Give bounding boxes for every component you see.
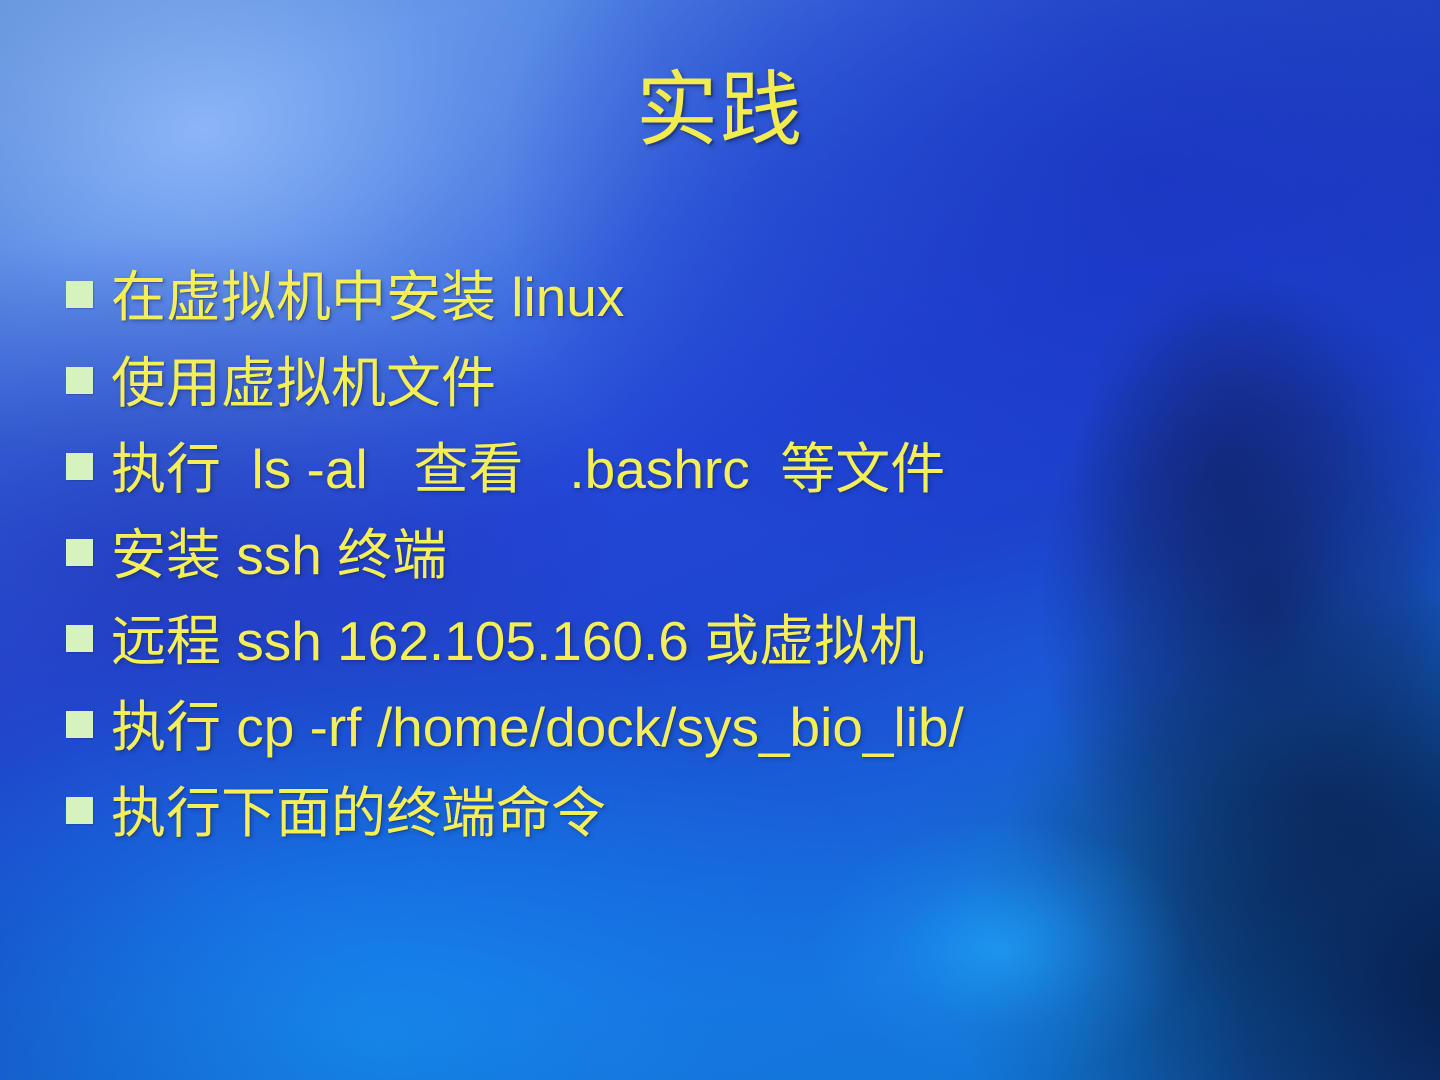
bullet-text-2: 使用虚拟机文件 xyxy=(111,348,1406,418)
square-bullet-icon xyxy=(66,539,93,566)
square-bullet-icon xyxy=(66,281,93,308)
bullet-text-1: 在虚拟机中安装 linux xyxy=(111,262,1406,332)
bullet-item-4: 安装 ssh 终端 xyxy=(66,520,1406,606)
bullet-item-7: 执行下面的终端命令 xyxy=(66,778,1406,864)
presentation-slide: 实践 在虚拟机中安装 linux 使用虚拟机文件 执行 ls -al 查看 .b… xyxy=(0,0,1440,1080)
slide-content: 实践 在虚拟机中安装 linux 使用虚拟机文件 执行 ls -al 查看 .b… xyxy=(0,0,1440,1080)
bullet-item-5: 远程 ssh 162.105.160.6 或虚拟机 xyxy=(66,606,1406,692)
bullet-text-7: 执行下面的终端命令 xyxy=(111,778,1406,848)
bullet-item-2: 使用虚拟机文件 xyxy=(66,348,1406,434)
bullet-list: 在虚拟机中安装 linux 使用虚拟机文件 执行 ls -al 查看 .bash… xyxy=(66,262,1406,864)
slide-title: 实践 xyxy=(0,70,1440,152)
bullet-text-4: 安装 ssh 终端 xyxy=(111,520,1406,590)
bullet-text-3: 执行 ls -al 查看 .bashrc 等文件 xyxy=(111,434,1406,504)
bullet-text-5: 远程 ssh 162.105.160.6 或虚拟机 xyxy=(111,606,1406,676)
bullet-item-3: 执行 ls -al 查看 .bashrc 等文件 xyxy=(66,434,1406,520)
square-bullet-icon xyxy=(66,625,93,652)
square-bullet-icon xyxy=(66,453,93,480)
bullet-item-1: 在虚拟机中安装 linux xyxy=(66,262,1406,348)
square-bullet-icon xyxy=(66,367,93,394)
square-bullet-icon xyxy=(66,797,93,824)
bullet-item-6: 执行 cp -rf /home/dock/sys_bio_lib/ xyxy=(66,692,1406,778)
bullet-text-6: 执行 cp -rf /home/dock/sys_bio_lib/ xyxy=(111,692,1406,762)
square-bullet-icon xyxy=(66,711,93,738)
